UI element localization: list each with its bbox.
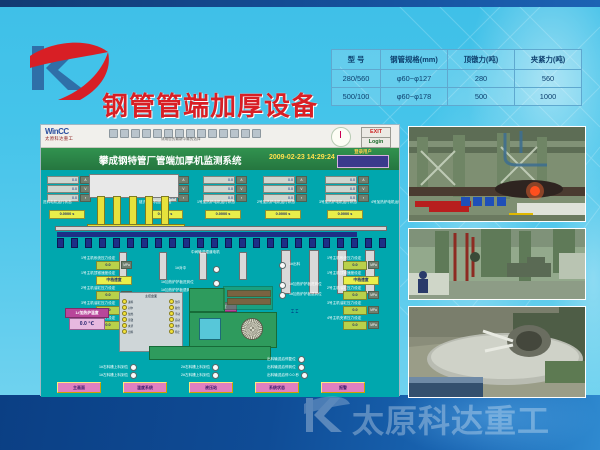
roller (113, 238, 120, 248)
lamp-centering (213, 266, 220, 273)
lamp-label-b: 1#加热炉护板进到位 (289, 282, 322, 287)
param-unit: MPa (368, 306, 379, 314)
control-label: 进料 (128, 300, 133, 304)
furnace-column (161, 196, 169, 226)
new-icon[interactable] (109, 129, 118, 138)
indicator-lamp-icon (122, 305, 127, 310)
param-unit: MPa (368, 321, 379, 329)
status-lamp (298, 364, 305, 371)
nav-button-system-status[interactable]: 系统状态 (255, 382, 299, 393)
hmi-timestamp: 2009-02-23 14:29:24 (269, 154, 335, 161)
status-lamp-label: 出料输送启停复位 (267, 357, 296, 362)
slide-root: 钢管管端加厚设备 型 号 钢管规格(mm) 顶镦力(吨) 夹紧力(吨) 280/… (0, 0, 600, 450)
roller (197, 238, 204, 248)
roller (379, 238, 386, 248)
roller (183, 238, 190, 248)
status-lamp-group: 出料输送启停复位 出料输送启停到位 出料输送启停 0.0 秒 (267, 356, 308, 379)
toolbar-note: 请用您的最新中最的选择 (161, 137, 201, 142)
roller (99, 238, 106, 248)
conveyor-rail (55, 226, 387, 231)
param-value[interactable]: 0.0 (96, 291, 120, 300)
spec-header-model: 型 号 (332, 50, 381, 70)
readout-group-2: 0.0A 0.0V 0.0r (263, 176, 309, 202)
param-unit: MPa (121, 261, 132, 269)
readout-group-3: 0.0A 0.0V 0.0r (325, 176, 371, 202)
control-panel-row[interactable]: 夹紧 单步 (122, 323, 180, 328)
bottom-lamp-group-left: 1#右料槽上料到位 1#左料槽上料到位 (99, 364, 137, 379)
readout-unit: A (296, 176, 307, 184)
lamp-guard-in (213, 280, 220, 287)
kd-red-swoosh-logo (24, 38, 110, 100)
indicator-lamp-icon (169, 317, 174, 322)
furnace-column (113, 196, 121, 226)
control-label: 复位 (175, 306, 180, 310)
press-clamp-assembly (223, 286, 273, 310)
zoom-icon[interactable] (208, 129, 217, 138)
furnace-column (145, 196, 153, 226)
readout-group-3-label: 3号加热炉电机运行状态 (319, 200, 357, 205)
plant-upsetting-line-photo (408, 126, 586, 222)
param-label: 1号主机顶镦速度设定 (81, 271, 147, 276)
nav-button-temperature[interactable]: 温度系统 (123, 382, 167, 393)
readout-value: 0.0 (203, 185, 235, 193)
readout-group-1: 0.0A 0.0V 0.0r (203, 176, 249, 202)
roller-row (57, 238, 386, 248)
roller (309, 238, 316, 248)
status-lamp (301, 372, 308, 379)
control-label: 单步 (175, 324, 180, 328)
bottom-lamp (130, 372, 137, 379)
control-label: 手动 (175, 312, 180, 316)
readout-total-1: 0.0000 s (205, 210, 241, 219)
readout-group-1-label: 1号加热炉电机运行状态 (197, 200, 235, 205)
brand-header: 钢管管端加厚设备 (24, 38, 324, 100)
readout-group-left-label: 进料电机运行状态 (43, 200, 72, 205)
readout-unit: r (358, 194, 369, 202)
roller (281, 238, 288, 248)
control-label: 夹紧 (128, 324, 133, 328)
spec-table: 型 号 钢管规格(mm) 顶镦力(吨) 夹紧力(吨) 280/560 φ60~φ… (331, 49, 582, 106)
lamp-status-a (279, 262, 286, 269)
login-button[interactable]: Login (361, 137, 391, 148)
roller (211, 238, 218, 248)
roller (295, 238, 302, 248)
readout-unit: A (178, 176, 189, 184)
indicator-lamp-icon (122, 323, 127, 328)
wincc-logo: WinCC 太原科达重工 (45, 127, 97, 142)
readout-unit: A (236, 176, 247, 184)
cell-pipe-size: φ60~φ178 (381, 88, 448, 106)
roller (253, 238, 260, 248)
cell-upset-force: 280 (448, 70, 515, 88)
readout-group-4-label: 4号加热炉电机运行状态 (371, 200, 399, 205)
control-label: 对中 (128, 306, 133, 310)
indicator-lamp-icon (169, 299, 174, 304)
furnace-vessel (89, 174, 179, 198)
readout-unit: r (236, 194, 247, 202)
roller (169, 238, 176, 248)
bottom-lamp (212, 364, 219, 371)
indicator-lamp-icon (122, 311, 127, 316)
param-value[interactable]: 中档速度 (343, 276, 379, 285)
bottom-lamp (130, 364, 137, 371)
wincc-wordmark: WinCC (45, 127, 97, 136)
mid-label-conveyor-motor: 中间输送辊道电机 (191, 250, 220, 255)
watermark-company-name: 太原科达重工 (352, 396, 550, 442)
roller (365, 238, 372, 248)
furnace-column (129, 196, 137, 226)
wincc-subtitle: 太原科达重工 (45, 136, 97, 142)
bottom-lamp (212, 372, 219, 379)
roller (351, 238, 358, 248)
pipe-end-upsetting-closeup-photo (408, 306, 586, 398)
control-panel-row[interactable]: 出料 停止 (122, 329, 180, 334)
indicator-lamp-icon (169, 311, 174, 316)
control-label: 自动 (175, 318, 180, 322)
indicator-lamp-icon (169, 329, 174, 334)
bottom-lamp-group-mid: 2#右料槽上料到位 2#左料槽上料到位 (181, 364, 219, 379)
hmi-titlebar: 攀成钢特管厂管端加厚机监测系统 2009-02-23 14:29:24 登录用户 (41, 148, 399, 170)
roller (85, 238, 92, 248)
watermark-kd-logo (300, 392, 352, 438)
readout-unit: V (236, 185, 247, 193)
conveyor-belt (57, 232, 357, 237)
cell-model: 500/100 (332, 88, 381, 106)
lamp-label-a: 1#出料 (289, 262, 300, 267)
furnace-column (97, 196, 105, 226)
spec-header-pipe-size: 钢管规格(mm) (381, 50, 448, 70)
hmi-title: 攀成钢特管厂管端加厚机监测系统 (99, 153, 242, 167)
readout-value: 0.0 (325, 185, 357, 193)
open-icon[interactable] (120, 129, 129, 138)
readout-unit: V (358, 185, 369, 193)
cell-pipe-size: φ60~φ127 (381, 70, 448, 88)
align-icon[interactable] (230, 129, 239, 138)
readout-value: 0.0 (325, 176, 357, 184)
help-icon[interactable] (252, 129, 261, 138)
page-title: 钢管管端加厚设备 (102, 86, 318, 123)
param-value[interactable]: 0.0 (343, 291, 367, 300)
status-lamp-label: 出料输送启停到位 (267, 365, 296, 370)
readout-value: 0.0 (47, 185, 79, 193)
roller (225, 238, 232, 248)
control-label: 急停 (175, 300, 180, 304)
cell-upset-force: 500 (448, 88, 515, 106)
param-value[interactable]: 中档速度 (96, 276, 132, 285)
roller (57, 238, 64, 248)
press-window (199, 318, 221, 340)
indicator-lamp-icon (169, 305, 174, 310)
cell-model: 280/560 (332, 70, 381, 88)
print-icon[interactable] (142, 129, 151, 138)
roller (127, 238, 134, 248)
indicator-lamp-icon (169, 323, 174, 328)
roller (155, 238, 162, 248)
mid-label-centering: 1#对中 (175, 266, 186, 271)
user-login-box: 登录用户 (337, 149, 389, 168)
indicator-lamp-icon (122, 317, 127, 322)
roller (71, 238, 78, 248)
user-input[interactable] (337, 155, 389, 168)
readout-unit: V (178, 185, 189, 193)
analog-clock-icon (331, 127, 351, 147)
readout-unit: V (296, 185, 307, 193)
table-row: 500/100 φ60~φ178 500 1000 (332, 88, 582, 106)
control-panel-row[interactable]: 对中 复位 (122, 305, 180, 310)
control-panel-title: 主控盘面 (120, 294, 182, 298)
roller (141, 238, 148, 248)
lamp-status-b (279, 282, 286, 289)
param-value[interactable]: 0.0 (96, 261, 120, 270)
readout-unit: A (358, 176, 369, 184)
param-unit: MPa (368, 261, 379, 269)
control-label: 顶镦 (128, 318, 133, 322)
roller (239, 238, 246, 248)
param-value[interactable]: 0.0 (343, 306, 367, 315)
readout-total-3: 0.0000 s (327, 210, 363, 219)
cell-clamp-force: 560 (515, 70, 582, 88)
press-gauge (241, 318, 263, 340)
roller (267, 238, 274, 248)
layer-icon[interactable] (241, 129, 250, 138)
temp-value-left: 0.0 ℃ (69, 318, 105, 330)
param-value[interactable]: 0.0 (343, 321, 367, 330)
hydraulic-cylinder (199, 252, 207, 280)
readout-value: 0.0 (47, 176, 79, 184)
bottom-lamp-label: 1#右料槽上料到位 (99, 365, 128, 370)
readout-group-left: 0.0 A 0.0 V 0.0 r (47, 176, 93, 202)
status-lamp (298, 356, 305, 363)
hmi-screenshot: WinCC 太原科达重工 请用您的最新中最的选择 E (40, 124, 400, 396)
control-label: 出料 (128, 330, 133, 334)
hmi-mimic-diagram: 0.0 A 0.0 V 0.0 r 进料电机运行状态 0.0000 s 0.0A… (41, 170, 399, 397)
cell-clamp-force: 1000 (515, 88, 582, 106)
plant-press-frame-photo (408, 228, 586, 300)
bottom-lamp-label: 1#左料槽上料到位 (99, 373, 128, 378)
press-base (149, 346, 271, 360)
readout-total-left: 0.0000 s (49, 210, 85, 219)
press-body-upper (189, 288, 225, 312)
control-panel-row[interactable]: 进料 急停 (122, 299, 180, 304)
nav-button-main-screen[interactable]: 主画面 (57, 382, 101, 393)
spec-table-header-row: 型 号 钢管规格(mm) 顶镦力(吨) 夹紧力(吨) (332, 50, 582, 70)
spec-header-upset-force: 顶镦力(吨) (448, 50, 515, 70)
readout-value: 0.0 (203, 176, 235, 184)
param-list-right: 1号主机系统压力设定 0.0MPa 1号主机顶镦速度设定 中档速度 2号主机油缸… (327, 256, 395, 330)
mid-label-guard-in: 1#加热炉护板进到位 (161, 280, 194, 285)
control-panel-row[interactable]: 加热 手动 (122, 311, 180, 316)
readout-group-2-label: 2号加热炉电机运行状态 (257, 200, 295, 205)
roller (337, 238, 344, 248)
hmi-toolbar: WinCC 太原科达重工 请用您的最新中最的选择 E (41, 125, 399, 148)
table-row: 280/560 φ60~φ127 280 560 (332, 70, 582, 88)
temp-label-left: 1#加热炉温度 (65, 308, 109, 318)
bottom-lamp-label: 2#左料槽上料到位 (181, 373, 210, 378)
hydraulic-cylinder (239, 252, 247, 280)
roller (323, 238, 330, 248)
hydraulic-cylinder (159, 252, 167, 280)
nav-button-hydraulic[interactable]: 液压站 (189, 382, 233, 393)
param-unit: MPa (368, 291, 379, 299)
grid-icon[interactable] (219, 129, 228, 138)
control-label: 停止 (175, 330, 180, 334)
top-navy-strip (0, 0, 600, 7)
control-panel-row[interactable]: 顶镦 自动 (122, 317, 180, 322)
control-panel[interactable]: 主控盘面 进料 急停 对中 复位 加热 (119, 292, 183, 352)
lamp-status-c (279, 292, 286, 299)
indicator-lamp-icon (122, 299, 127, 304)
param-label: 1号主机顶镦速度设定 (327, 271, 395, 276)
readout-value: 0.0 (263, 185, 295, 193)
readout-total-2: 0.0000 s (265, 210, 301, 219)
readout-unit: r (178, 194, 189, 202)
lamp-label-c: 1#加热炉护板退到位 (289, 292, 322, 297)
indicator-lamp-icon (122, 329, 127, 334)
param-value[interactable]: 0.0 (343, 261, 367, 270)
control-label: 加热 (128, 312, 133, 316)
readout-value: 0.0 (263, 176, 295, 184)
hydraulic-cylinder (309, 250, 319, 294)
bottom-lamp-label: 2#右料槽上料到位 (181, 365, 210, 370)
save-icon[interactable] (131, 129, 140, 138)
status-lamp-label: 出料输送启停 0.0 秒 (267, 373, 299, 378)
readout-unit: r (296, 194, 307, 202)
spec-header-clamp-force: 夹紧力(吨) (515, 50, 582, 70)
cross-fitting-icon: ⌶ ⌶ (291, 310, 298, 315)
